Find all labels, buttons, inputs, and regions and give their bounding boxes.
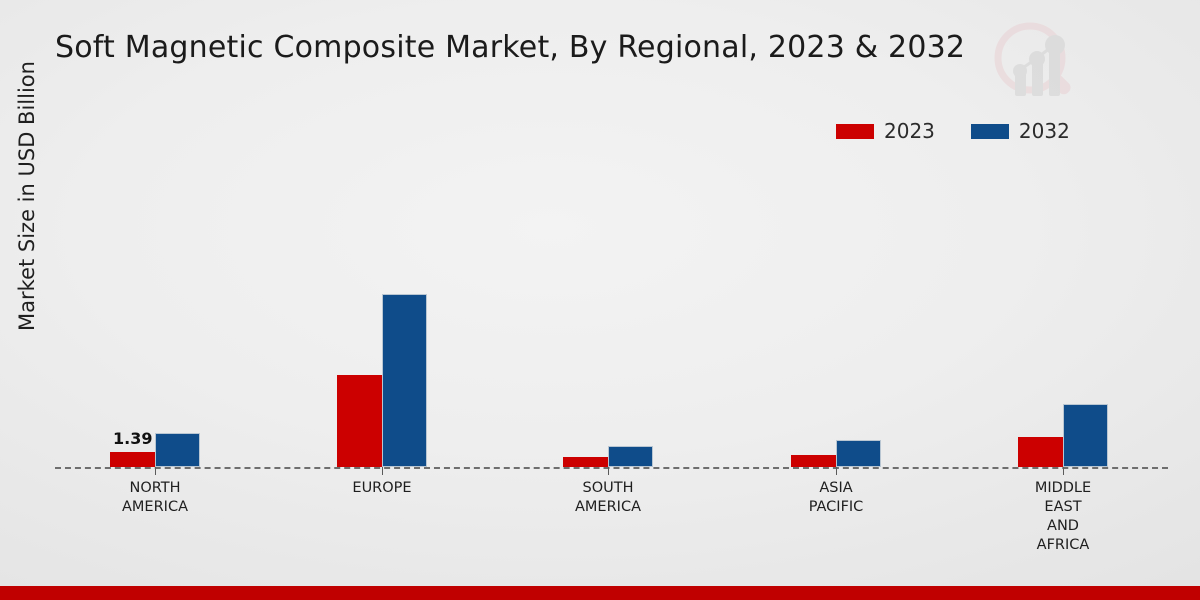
legend-label-2023: 2023 (884, 119, 935, 143)
plot-area: 1.39 (55, 185, 1168, 469)
bar-2023-north-america[interactable] (110, 452, 155, 467)
category-label-line: AMERICA (528, 498, 688, 517)
category-label-asia-pacific: ASIA PACIFIC (756, 479, 916, 517)
category-label-line: SOUTH (528, 479, 688, 498)
category-label-line: AND (983, 517, 1143, 536)
bar-pair (110, 185, 200, 467)
axis-tick-middle-east-and-africa (1063, 467, 1064, 475)
category-label-line: AMERICA (75, 498, 235, 517)
category-label-middle-east-and-africa: MIDDLE EAST AND AFRICA (983, 479, 1143, 555)
category-label-line: MIDDLE (983, 479, 1143, 498)
bar-2032-south-america[interactable] (608, 446, 653, 467)
bar-2023-asia-pacific[interactable] (791, 455, 836, 467)
category-label-line: EUROPE (302, 479, 462, 498)
chart-title: Soft Magnetic Composite Market, By Regio… (55, 30, 1005, 65)
chart-figure: Soft Magnetic Composite Market, By Regio… (0, 0, 1200, 600)
bar-value-label-north-america-2023: 1.39 (113, 429, 152, 448)
legend-swatch-2023 (836, 124, 874, 139)
chart-legend: 2023 2032 (836, 119, 1070, 143)
legend-swatch-2032 (971, 124, 1009, 139)
axis-tick-asia-pacific (836, 467, 837, 475)
bar-pair (1018, 185, 1108, 467)
category-label-line: AFRICA (983, 536, 1143, 555)
axis-tick-north-america (155, 467, 156, 475)
category-label-line: NORTH (75, 479, 235, 498)
bar-2032-asia-pacific[interactable] (836, 440, 881, 467)
axis-tick-europe (382, 467, 383, 475)
category-label-south-america: SOUTH AMERICA (528, 479, 688, 517)
category-label-north-america: NORTH AMERICA (75, 479, 235, 517)
legend-item-2023[interactable]: 2023 (836, 119, 935, 143)
bar-pair (563, 185, 653, 467)
bar-2023-south-america[interactable] (563, 457, 608, 467)
y-axis-title: Market Size in USD Billion (15, 26, 45, 366)
legend-item-2032[interactable]: 2032 (971, 119, 1070, 143)
legend-label-2032: 2032 (1019, 119, 1070, 143)
bar-2032-europe[interactable] (382, 294, 427, 467)
axis-tick-south-america (608, 467, 609, 475)
footer-accent-bar (0, 586, 1200, 600)
category-label-line: ASIA (756, 479, 916, 498)
category-label-line: PACIFIC (756, 498, 916, 517)
category-label-europe: EUROPE (302, 479, 462, 498)
bar-2023-middle-east-and-africa[interactable] (1018, 437, 1063, 467)
bar-2032-north-america[interactable] (155, 433, 200, 467)
bar-pair (791, 185, 881, 467)
x-axis-baseline (55, 467, 1168, 469)
category-label-line: EAST (983, 498, 1143, 517)
bar-2023-europe[interactable] (337, 375, 382, 467)
bar-2032-middle-east-and-africa[interactable] (1063, 404, 1108, 467)
bar-pair (337, 185, 427, 467)
